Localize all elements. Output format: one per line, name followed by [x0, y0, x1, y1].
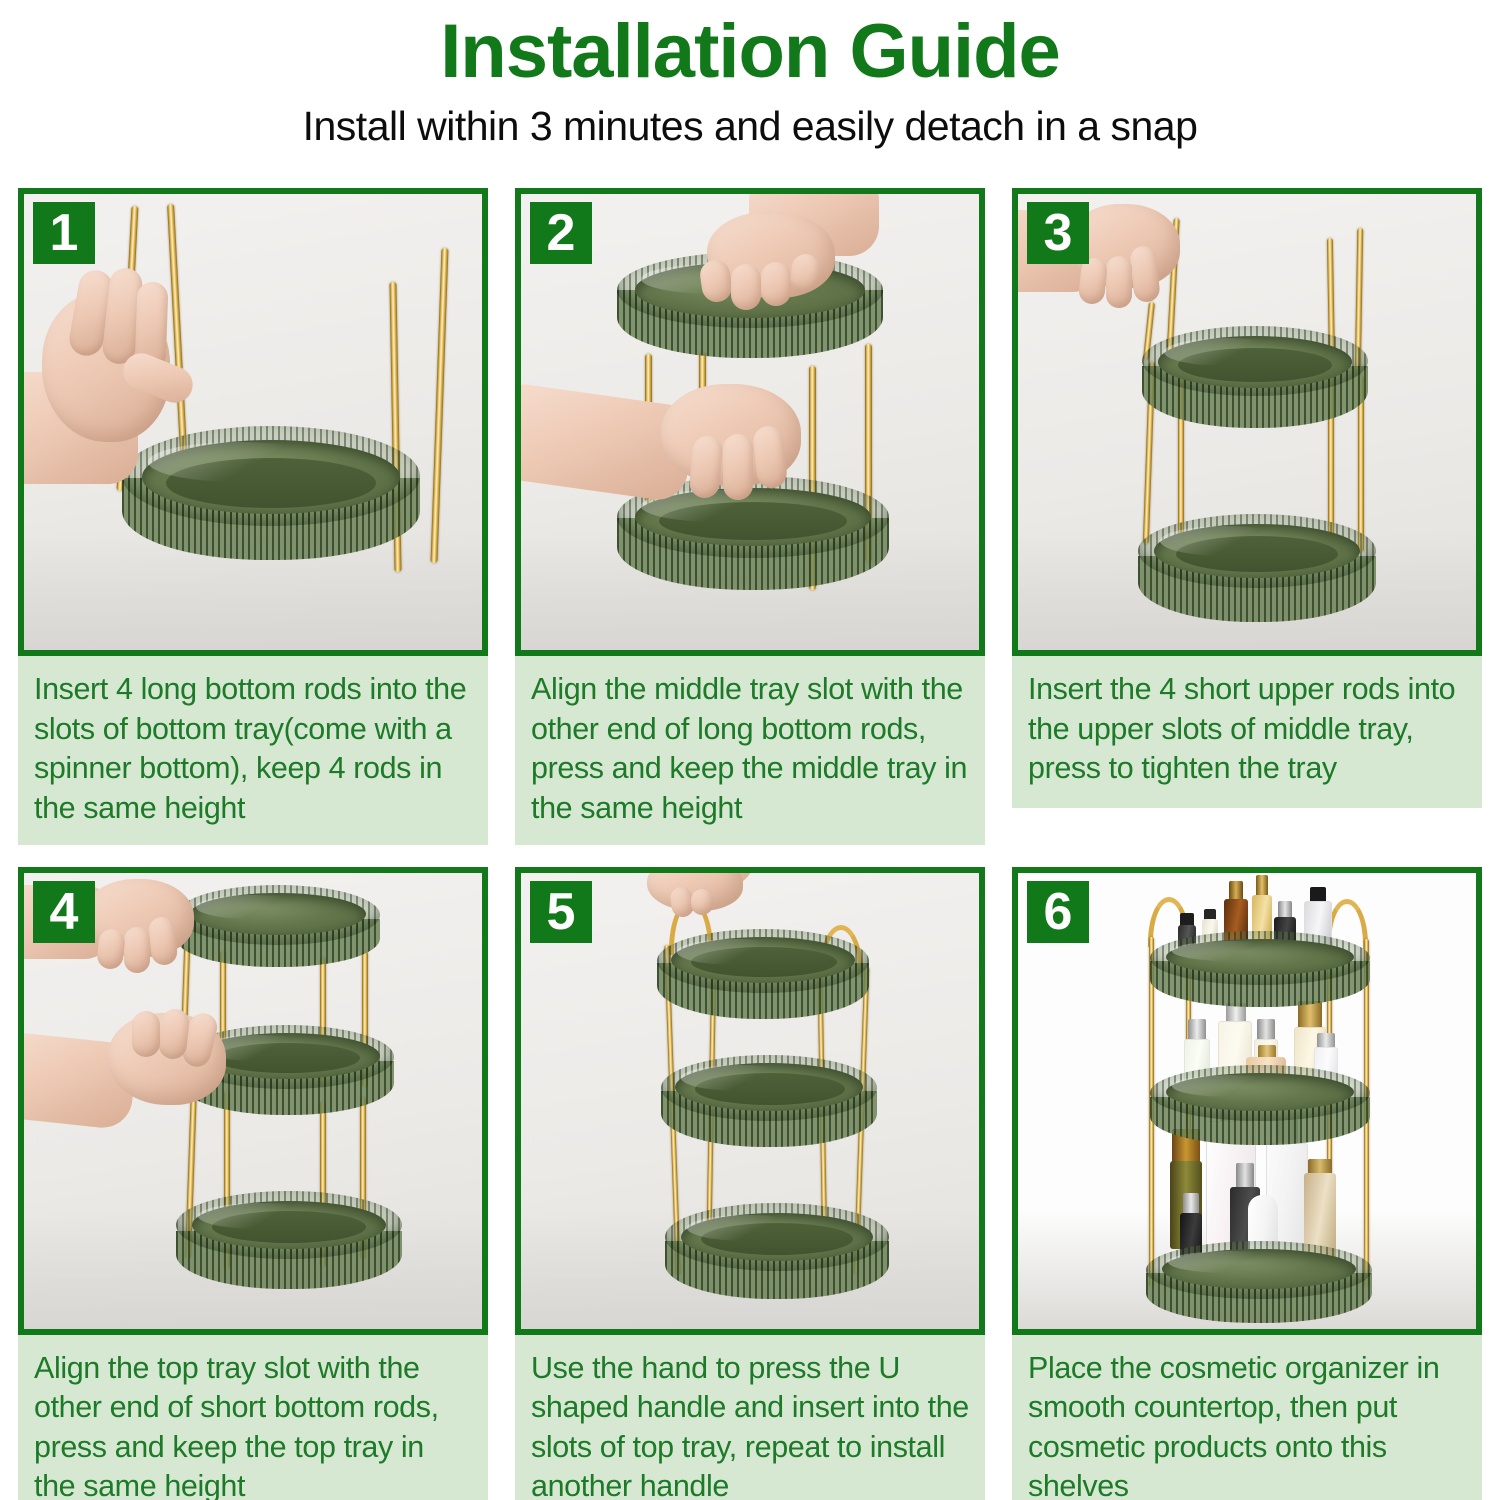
- step-3-caption: Insert the 4 short upper rods into the u…: [1012, 656, 1482, 808]
- bottom-tray: [176, 1191, 402, 1303]
- step-5-photo: 5: [515, 867, 985, 1335]
- page-header: Installation Guide Install within 3 minu…: [0, 0, 1500, 151]
- page-title: Installation Guide: [0, 12, 1500, 92]
- step-3: 3 Insert the 4 short upper rods into the…: [1012, 188, 1482, 845]
- middle-tray: [1142, 326, 1368, 444]
- middle-tray: [1150, 1065, 1370, 1159]
- step-2-caption: Align the middle tray slot with the othe…: [515, 656, 985, 845]
- bottom-tray: [1138, 514, 1376, 636]
- step-number-badge: 1: [33, 202, 95, 264]
- step-3-photo: 3: [1012, 188, 1482, 656]
- top-tray: [657, 929, 869, 1035]
- step-5: 5 Use the hand to press the U shaped han…: [515, 867, 985, 1500]
- step-2-photo: 2: [515, 188, 985, 656]
- middle-tray: [661, 1055, 877, 1163]
- step-6-caption: Place the cosmetic organizer in smooth c…: [1012, 1335, 1482, 1500]
- step-4: 4 Align the top tray slot with the other…: [18, 867, 488, 1500]
- step-number-badge: 4: [33, 881, 95, 943]
- hand: [629, 867, 759, 931]
- step-1-photo: 1: [18, 188, 488, 656]
- step-1-caption: Insert 4 long bottom rods into the slots…: [18, 656, 488, 845]
- step-6: 6 Place the cosmetic organizer in smooth…: [1012, 867, 1482, 1500]
- step-4-photo: 4: [18, 867, 488, 1335]
- step-5-caption: Use the hand to press the U shaped handl…: [515, 1335, 985, 1500]
- step-number-badge: 2: [530, 202, 592, 264]
- top-tray: [1150, 931, 1370, 1021]
- step-1: 1 Insert 4 long bottom rods into the slo…: [18, 188, 488, 845]
- hand: [18, 264, 228, 494]
- step-6-photo: 6: [1012, 867, 1482, 1335]
- step-number-badge: 6: [1027, 881, 1089, 943]
- hand: [18, 993, 240, 1123]
- step-4-caption: Align the top tray slot with the other e…: [18, 1335, 488, 1500]
- step-2: 2 Align the middle tray slot with the ot…: [515, 188, 985, 845]
- step-number-badge: 3: [1027, 202, 1089, 264]
- step-number-badge: 5: [530, 881, 592, 943]
- installation-guide-page: Installation Guide Install within 3 minu…: [0, 0, 1500, 1500]
- bottom-tray: [665, 1203, 889, 1313]
- hand: [687, 198, 867, 328]
- hand: [515, 378, 831, 518]
- page-subtitle: Install within 3 minutes and easily deta…: [0, 102, 1500, 151]
- bottom-tray: [1146, 1241, 1372, 1335]
- steps-grid: 1 Insert 4 long bottom rods into the slo…: [18, 188, 1482, 1500]
